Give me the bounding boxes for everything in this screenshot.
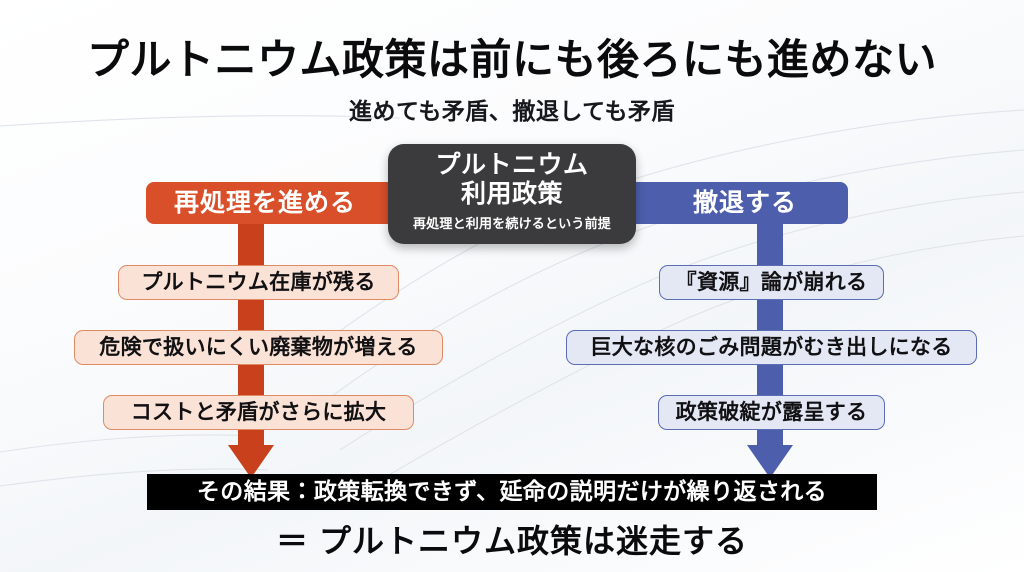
branch-header-left[interactable]: 再処理を進める <box>146 182 392 224</box>
left-item-1[interactable]: プルトニウム在庫が残る <box>118 265 399 300</box>
central-policy-line2: 利用政策 <box>388 180 636 209</box>
right-item-1[interactable]: 『資源』論が崩れる <box>659 265 884 300</box>
page-title: プルトニウム政策は前にも後ろにも進めない <box>0 26 1024 87</box>
central-policy-box[interactable]: プルトニウム 利用政策 再処理と利用を続けるという前提 <box>388 144 636 244</box>
right-item-3[interactable]: 政策破綻が露呈する <box>658 395 885 430</box>
right-item-2[interactable]: 巨大な核のごみ問題がむき出しになる <box>566 330 977 365</box>
left-item-2[interactable]: 危険で扱いにくい廃棄物が増える <box>74 330 443 365</box>
branch-header-right[interactable]: 撤退する <box>632 182 848 224</box>
slide-canvas: プルトニウム政策は前にも後ろにも進めない 進めても矛盾、撤退しても矛盾 再処理を… <box>0 0 1024 572</box>
final-statement: ＝ プルトニウム政策は迷走する <box>0 516 1024 562</box>
conclusion-bar: その結果：政策転換できず、延命の説明だけが繰り返される <box>147 474 877 510</box>
central-policy-note: 再処理と利用を続けるという前提 <box>388 213 636 232</box>
left-item-3[interactable]: コストと矛盾がさらに拡大 <box>103 395 414 430</box>
central-policy-line1: プルトニウム <box>388 151 636 180</box>
page-subtitle: 進めても矛盾、撤退しても矛盾 <box>0 92 1024 126</box>
